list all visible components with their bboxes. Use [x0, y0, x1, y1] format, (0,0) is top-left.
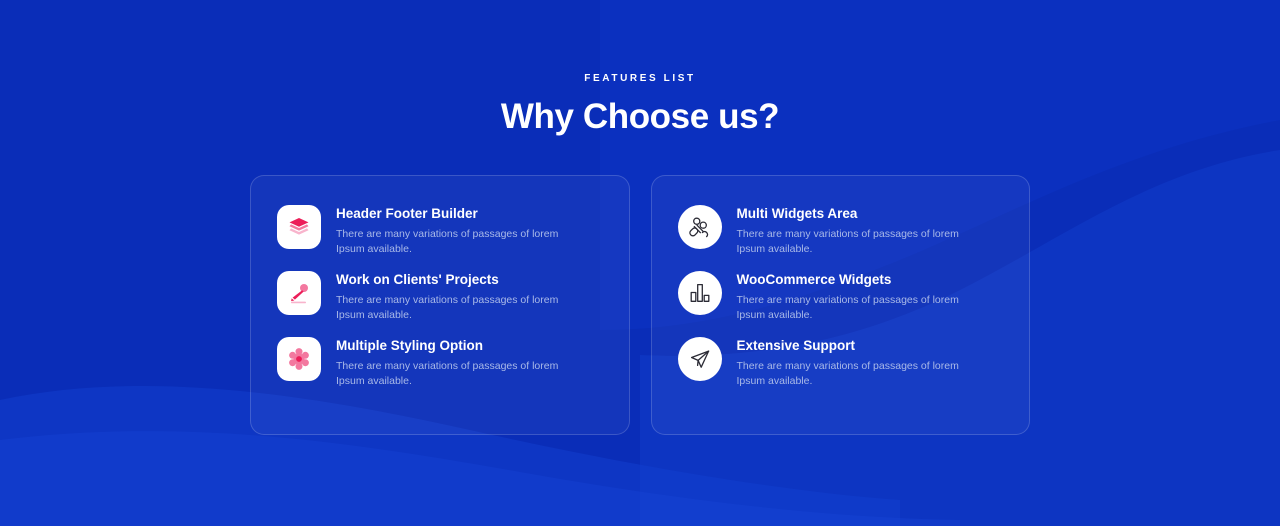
left-feature-card: Header Footer Builder There are many var… [250, 175, 630, 435]
feature-item-woocommerce-widgets[interactable]: WooCommerce Widgets There are many varia… [678, 270, 1004, 336]
page-title: Why Choose us? [0, 97, 1280, 137]
feature-title: Work on Clients' Projects [336, 272, 581, 288]
feature-title: Multiple Styling Option [336, 338, 581, 354]
feature-item-multi-widgets-area[interactable]: Multi Widgets Area There are many variat… [678, 204, 1004, 270]
feature-text: Multiple Styling Option There are many v… [336, 336, 581, 389]
feature-description: There are many variations of passages of… [336, 359, 581, 389]
feature-item-extensive-support[interactable]: Extensive Support There are many variati… [678, 336, 1004, 402]
feature-cards-container: Header Footer Builder There are many var… [250, 175, 1030, 435]
flower-icon [277, 337, 321, 381]
feature-title: Extensive Support [737, 338, 982, 354]
feature-text: WooCommerce Widgets There are many varia… [737, 270, 982, 323]
feature-description: There are many variations of passages of… [336, 227, 581, 257]
feature-text: Multi Widgets Area There are many variat… [737, 204, 982, 257]
feature-text: Work on Clients' Projects There are many… [336, 270, 581, 323]
feature-title: WooCommerce Widgets [737, 272, 982, 288]
feature-text: Extensive Support There are many variati… [737, 336, 982, 389]
bar-chart-icon [678, 271, 722, 315]
feature-description: There are many variations of passages of… [737, 227, 982, 257]
paper-plane-icon [678, 337, 722, 381]
features-section: FEATURES LIST Why Choose us? Header Foot… [0, 0, 1280, 526]
pen-icon [277, 271, 321, 315]
feature-title: Multi Widgets Area [737, 206, 982, 222]
feature-item-work-on-clients-projects[interactable]: Work on Clients' Projects There are many… [277, 270, 603, 336]
feature-description: There are many variations of passages of… [737, 359, 982, 389]
layers-icon [277, 205, 321, 249]
feature-description: There are many variations of passages of… [737, 293, 982, 323]
feature-item-header-footer-builder[interactable]: Header Footer Builder There are many var… [277, 204, 603, 270]
section-eyebrow: FEATURES LIST [0, 73, 1280, 84]
feature-description: There are many variations of passages of… [336, 293, 581, 323]
feature-title: Header Footer Builder [336, 206, 581, 222]
feature-text: Header Footer Builder There are many var… [336, 204, 581, 257]
widgets-icon [678, 205, 722, 249]
right-feature-card: Multi Widgets Area There are many variat… [651, 175, 1031, 435]
feature-item-multiple-styling-option[interactable]: Multiple Styling Option There are many v… [277, 336, 603, 402]
